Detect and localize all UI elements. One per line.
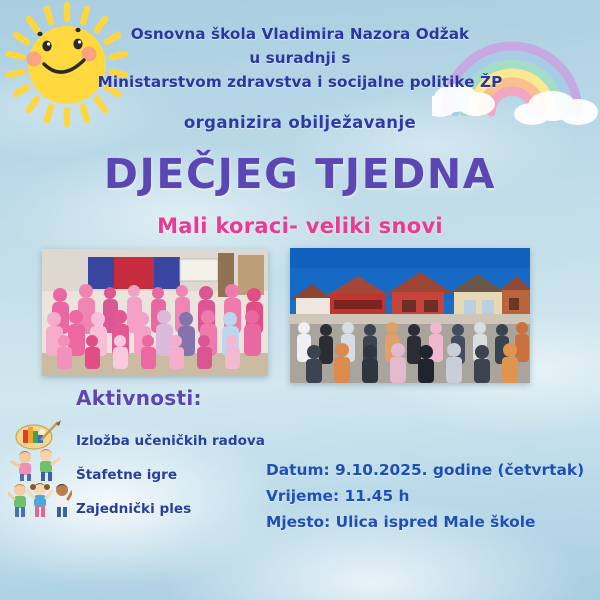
event-place: Mjesto: Ulica ispred Male škole: [266, 509, 584, 535]
page-title: DJEČJEG TJEDNA: [0, 150, 600, 198]
header-block: Osnovna škola Vladimira Nazora Odžak u s…: [0, 22, 600, 94]
event-info-block: Datum: 9.10.2025. godine (četvrtak) Vrij…: [266, 457, 584, 535]
header-line-2: u suradnji s: [0, 46, 600, 70]
slogan-text: Mali koraci- veliki snovi: [0, 214, 600, 238]
header-line-3: Ministarstvom zdravstva i socijalne poli…: [0, 70, 600, 94]
activities-heading: Aktivnosti:: [76, 386, 202, 410]
dancing-children-icon: [8, 480, 72, 518]
activity-item-1: Izložba učeničkih radova: [76, 424, 306, 458]
event-time: Vrijeme: 11.45 h: [266, 483, 584, 509]
organizira-line: organizira obilježavanje: [0, 113, 600, 132]
poster-canvas: Osnovna škola Vladimira Nazora Odžak u s…: [0, 0, 600, 600]
group-photo-pink-day: [42, 249, 268, 376]
header-line-1: Osnovna škola Vladimira Nazora Odžak: [0, 22, 600, 46]
running-children-icon: [8, 448, 64, 482]
event-date: Datum: 9.10.2025. godine (četvrtak): [266, 457, 584, 483]
group-photo-street-dance: [290, 248, 530, 383]
